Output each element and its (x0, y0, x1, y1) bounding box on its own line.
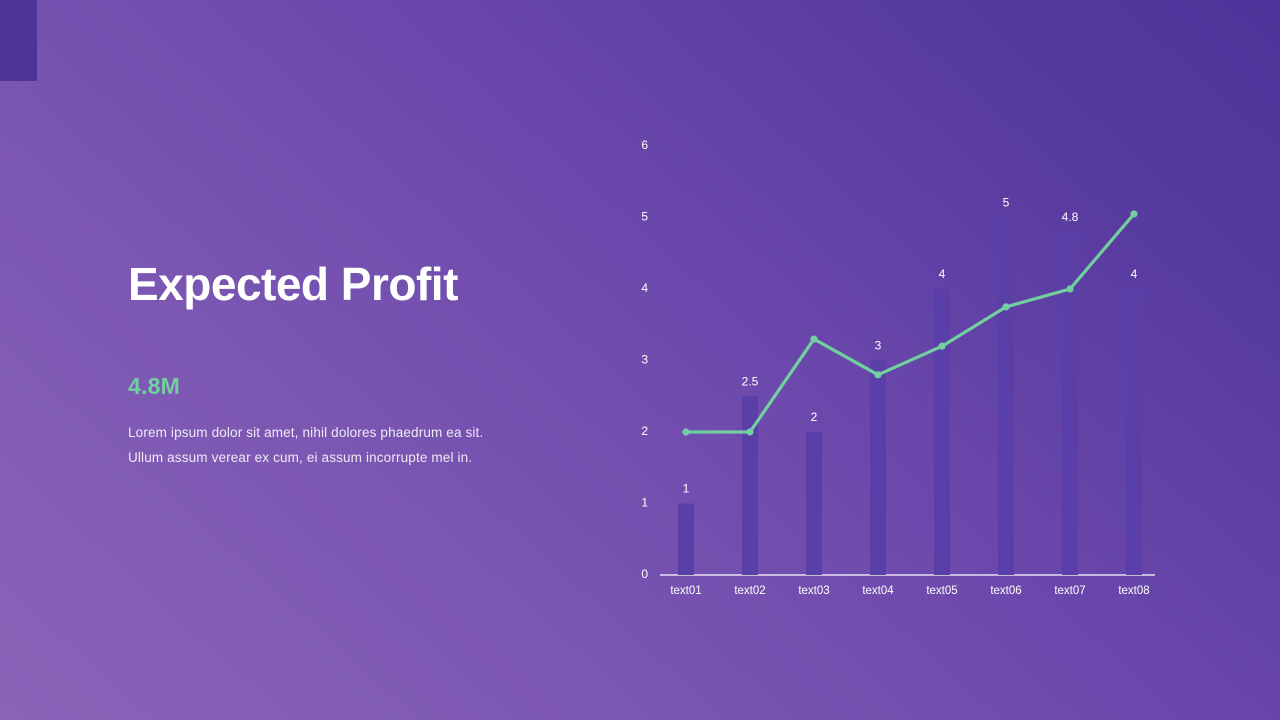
y-axis-tick-label: 6 (641, 138, 648, 152)
x-axis-tick-label: text03 (798, 585, 829, 597)
corner-accent-block (0, 0, 37, 81)
kpi-value: 4.8M (128, 373, 578, 400)
trend-point (874, 371, 881, 378)
chart-container: 012345612.523454.84text01text02text03tex… (630, 130, 1175, 600)
chart-bar (998, 218, 1014, 576)
trend-point (938, 343, 945, 350)
chart-bar (678, 504, 694, 576)
y-axis-tick-label: 4 (641, 281, 648, 295)
trend-point (810, 335, 817, 342)
left-text-column: Expected Profit 4.8M Lorem ipsum dolor s… (128, 258, 578, 470)
x-axis-tick-label: text06 (990, 585, 1021, 597)
x-axis-tick-label: text08 (1118, 585, 1149, 597)
body-line-2: Ullum assum verear ex cum, ei assum inco… (128, 445, 578, 470)
bar-value-label: 2.5 (742, 374, 759, 388)
trend-point (1002, 303, 1009, 310)
bar-value-label: 3 (875, 339, 882, 353)
chart-bar (934, 289, 950, 575)
bar-value-label: 4 (1131, 267, 1138, 281)
trend-point (682, 428, 689, 435)
bar-value-label: 1 (683, 482, 690, 496)
chart-bar (870, 361, 886, 576)
body-paragraph: Lorem ipsum dolor sit amet, nihil dolore… (128, 420, 578, 470)
y-axis-tick-label: 1 (641, 496, 648, 510)
trend-point (1066, 285, 1073, 292)
x-axis-tick-label: text05 (926, 585, 957, 597)
bar-value-label: 2 (811, 410, 818, 424)
trend-point (746, 428, 753, 435)
trend-point (1130, 210, 1137, 217)
x-axis-tick-label: text02 (734, 585, 765, 597)
y-axis-tick-label: 3 (641, 353, 648, 367)
y-axis-tick-label: 0 (641, 567, 648, 581)
bar-value-label: 4 (939, 267, 946, 281)
body-line-1: Lorem ipsum dolor sit amet, nihil dolore… (128, 420, 578, 445)
chart-bar (806, 432, 822, 575)
bar-value-label: 5 (1003, 196, 1010, 210)
x-axis-tick-label: text04 (862, 585, 894, 597)
y-axis-tick-label: 5 (641, 210, 648, 224)
chart-bar (1126, 289, 1142, 575)
y-axis-tick-label: 2 (641, 424, 648, 438)
x-axis-tick-label: text01 (670, 585, 701, 597)
combo-bar-line-chart: 012345612.523454.84text01text02text03tex… (630, 130, 1175, 600)
bar-value-label: 4.8 (1062, 210, 1079, 224)
slide-root: Expected Profit 4.8M Lorem ipsum dolor s… (0, 0, 1280, 720)
x-axis-tick-label: text07 (1054, 585, 1085, 597)
page-title: Expected Profit (128, 258, 578, 311)
